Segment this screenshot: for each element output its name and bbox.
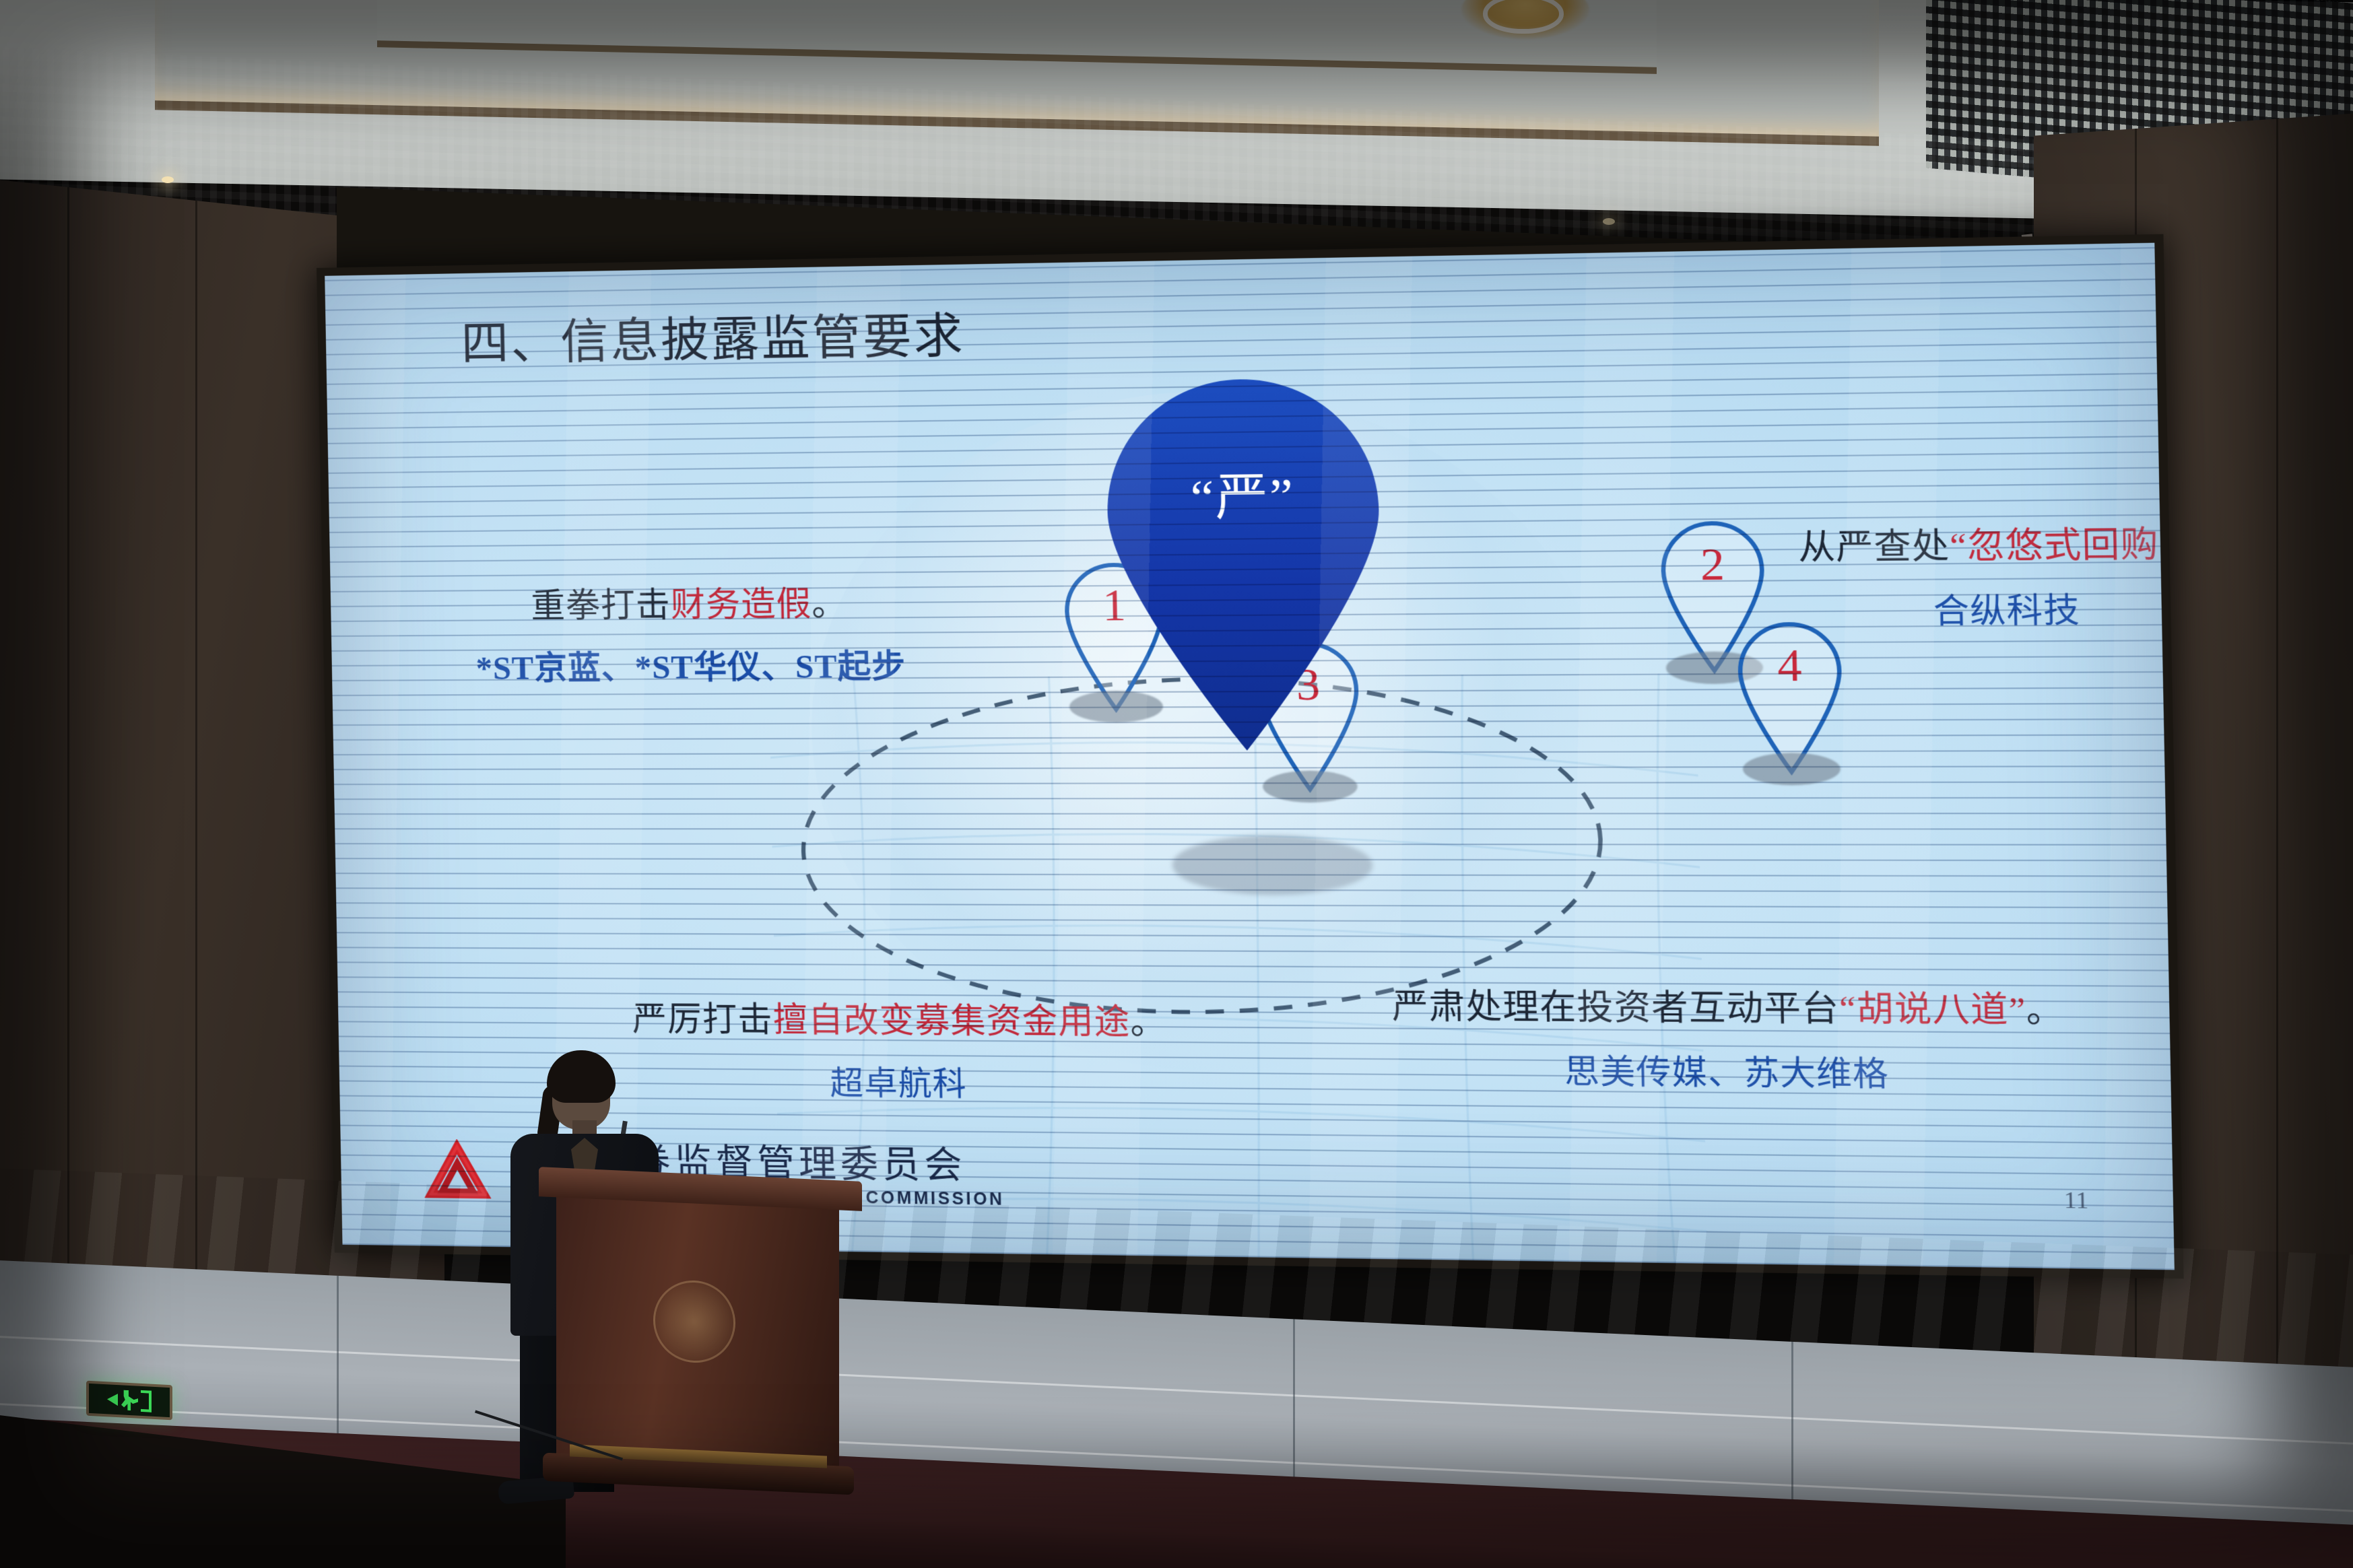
callout-3-companies: 超卓航科 [542, 1054, 1262, 1107]
callout-1-highlight: 财务造假 [670, 584, 811, 623]
conference-hall-photo: 四、信息披露监管要求 [0, 0, 2353, 1568]
callout-2-companies: 合纵科技 [1768, 580, 2174, 634]
exit-arrow-icon [107, 1393, 118, 1406]
callout-1-statement: 重拳打击财务造假。 [343, 574, 1040, 628]
pin-shadow [1263, 770, 1358, 803]
callout-4-prefix: 严肃处理在投资者互动平台 [1391, 986, 1839, 1028]
callout-1: 重拳打击财务造假。 *ST京蓝、*ST华仪、ST起步 [343, 574, 1041, 689]
callout-1-companies: *ST京蓝、*ST华仪、ST起步 [345, 638, 1042, 689]
callout-1-prefix: 重拳打击 [531, 586, 671, 625]
callout-3-statement: 严厉打击擅自改变募集资金用途。 [541, 991, 1261, 1045]
pin-2-number: 2 [1700, 538, 1725, 592]
running-person-icon [121, 1390, 138, 1410]
map-pin-4[interactable]: 4 [1733, 617, 1847, 777]
callout-4-suffix: 。 [2026, 990, 2065, 1030]
page-title: 四、信息披露监管要求 [461, 298, 966, 374]
callout-3-suffix: 。 [1130, 1002, 1167, 1042]
main-pin-label: “严” [1189, 454, 1295, 530]
callout-3-highlight: 擅自改变募集资金用途 [772, 1000, 1131, 1042]
callout-2-prefix: 从严查处 [1798, 526, 1950, 567]
callout-2-highlight: “忽悠式回购” [1950, 524, 2175, 566]
downlight-icon [162, 176, 174, 183]
main-pin-ground-shadow [1172, 836, 1373, 895]
pin-shadow [1743, 753, 1841, 785]
callout-4-companies: 思美传媒、苏大维格 [1297, 1042, 2166, 1097]
callout-4: 严肃处理在投资者互动平台“胡说八道”。 思美传媒、苏大维格 [1296, 978, 2166, 1097]
pin-4-number: 4 [1777, 639, 1803, 693]
downlight-icon [1603, 218, 1615, 225]
callout-2-statement: 从严查处“忽悠式回购”。 [1767, 515, 2175, 570]
main-pin-shape [1098, 374, 1391, 765]
callout-2: 从严查处“忽悠式回购”。 合纵科技 [1767, 515, 2175, 634]
callout-1-suffix: 。 [811, 584, 848, 623]
callout-4-highlight: “胡说八道” [1839, 989, 2026, 1030]
slide-page-number: 11 [2063, 1187, 2088, 1215]
main-map-pin[interactable]: “严” [1098, 374, 1391, 765]
callout-3-prefix: 严厉打击 [632, 1000, 773, 1039]
callout-4-statement: 严肃处理在投资者互动平台“胡说八道”。 [1296, 978, 2165, 1033]
exit-door-icon [141, 1390, 152, 1412]
callout-3: 严厉打击擅自改变募集资金用途。 超卓航科 [541, 991, 1262, 1107]
emergency-exit-sign [86, 1381, 172, 1421]
